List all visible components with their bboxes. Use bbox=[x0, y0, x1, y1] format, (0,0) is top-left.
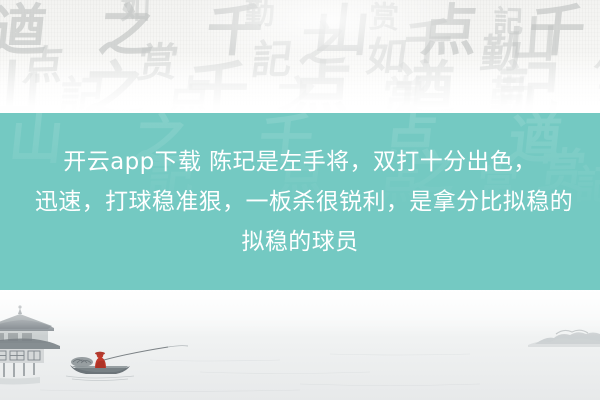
caption-line-3: 拟稳的球员 bbox=[242, 222, 359, 262]
banner-image: 遒 之 千 山 点 千 記 遒 之 山 点 遒 記 遒 点 赏 記 如 勤 点 … bbox=[0, 0, 600, 400]
promo-caption: 开云app下载 陈玘是左手将，双打十分出色， 迅速，打球稳准狠，一板杀很锐利，是… bbox=[0, 113, 600, 290]
caption-line-1: 开云app下载 陈玘是左手将，双打十分出色， bbox=[63, 142, 536, 182]
calligraphy-header-band: 遒 之 千 山 点 千 記 遒 之 山 点 遒 記 遒 点 赏 記 如 勤 点 … bbox=[0, 0, 600, 113]
teal-caption-band: 山 之 千 点 遒 記 山 之 千 赏 点 記 点 之 赏 勤 如 千 遒 点 … bbox=[0, 113, 600, 290]
caption-line-2: 迅速，打球稳准狠，一板杀很锐利，是拿分比拟稳的 bbox=[0, 182, 600, 222]
paper-bottom-fade bbox=[0, 51, 600, 113]
lake-mist bbox=[0, 290, 600, 336]
boat-cargo bbox=[71, 357, 93, 367]
ink-wash-landscape bbox=[0, 290, 600, 400]
